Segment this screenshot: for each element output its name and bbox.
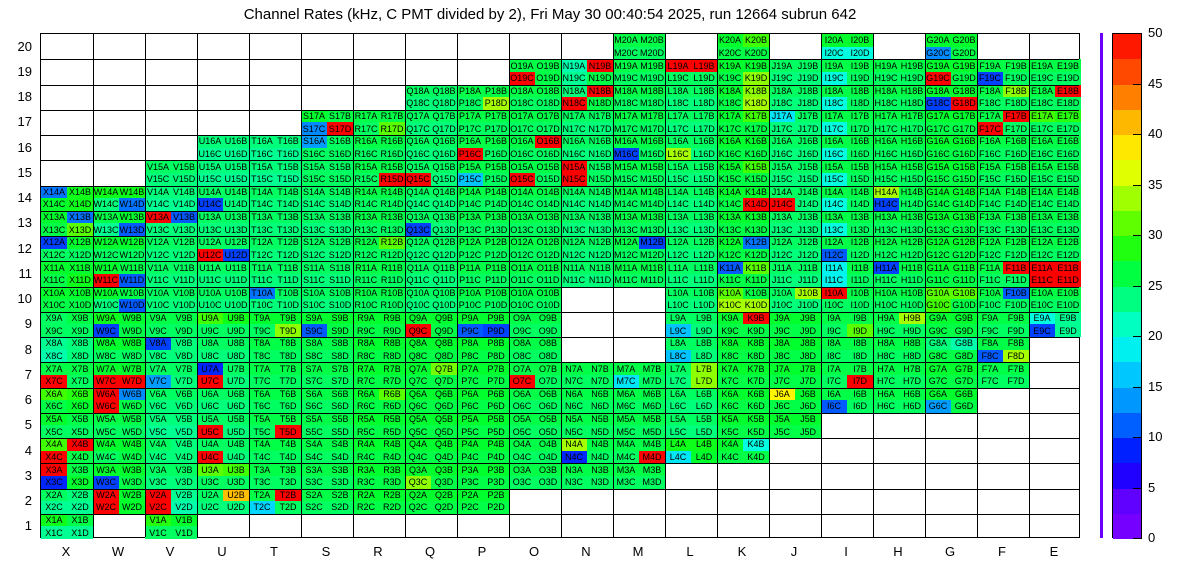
module-cell[interactable]: Q3AQ3BQ3CQ3D bbox=[405, 463, 457, 488]
channel-u13b[interactable]: U13B bbox=[223, 211, 249, 224]
channel-k18b[interactable]: K18B bbox=[743, 85, 769, 98]
channel-r5a[interactable]: R5A bbox=[353, 413, 379, 426]
channel-o10a[interactable]: O10A bbox=[509, 287, 535, 300]
channel-r8b[interactable]: R8B bbox=[379, 337, 405, 350]
channel-x6d[interactable]: X6D bbox=[67, 400, 93, 413]
channel-j13d[interactable]: J13D bbox=[795, 223, 821, 236]
channel-g10a[interactable]: G10A bbox=[925, 287, 951, 300]
channel-p12a[interactable]: P12A bbox=[457, 236, 483, 249]
channel-o13a[interactable]: O13A bbox=[509, 211, 535, 224]
channel-q5d[interactable]: Q5D bbox=[431, 425, 457, 438]
module-cell[interactable]: O17AO17BO17CO17D bbox=[509, 110, 561, 135]
module-cell[interactable]: S2AS2BS2CS2D bbox=[301, 489, 353, 514]
channel-f10a[interactable]: F10A bbox=[977, 287, 1003, 300]
channel-q16b[interactable]: Q16B bbox=[431, 135, 457, 148]
channel-j12b[interactable]: J12B bbox=[795, 236, 821, 249]
module-cell[interactable]: T5AT5BT5CT5D bbox=[249, 413, 301, 438]
channel-f16c[interactable]: F16C bbox=[977, 148, 1003, 161]
channel-l16c[interactable]: L16C bbox=[665, 148, 691, 161]
channel-o17a[interactable]: O17A bbox=[509, 110, 535, 123]
channel-o6d[interactable]: O6D bbox=[535, 400, 561, 413]
channel-g13d[interactable]: G13D bbox=[951, 223, 977, 236]
channel-p11c[interactable]: P11C bbox=[457, 274, 483, 287]
module-cell[interactable]: U15AU15BU15CU15D bbox=[197, 160, 249, 185]
channel-m16a[interactable]: M16A bbox=[613, 135, 639, 148]
channel-k4d[interactable]: K4D bbox=[743, 451, 769, 464]
channel-m16c[interactable]: M16C bbox=[613, 148, 639, 161]
module-cell[interactable]: X11AX11BX11CX11D bbox=[41, 261, 93, 286]
channel-i9b[interactable]: I9B bbox=[847, 312, 873, 325]
channel-j8c[interactable]: J8C bbox=[769, 350, 795, 363]
channel-w11c[interactable]: W11C bbox=[93, 274, 119, 287]
channel-k13b[interactable]: K13B bbox=[743, 211, 769, 224]
channel-n7b[interactable]: N7B bbox=[587, 362, 613, 375]
channel-n17c[interactable]: N17C bbox=[561, 122, 587, 135]
module-cell[interactable]: U12AU12BU12CU12D bbox=[197, 236, 249, 261]
channel-t11b[interactable]: T11B bbox=[275, 261, 301, 274]
channel-j16b[interactable]: J16B bbox=[795, 135, 821, 148]
channel-l19c[interactable]: L19C bbox=[665, 72, 691, 85]
channel-k8b[interactable]: K8B bbox=[743, 337, 769, 350]
channel-l11d[interactable]: L11D bbox=[691, 274, 717, 287]
module-cell[interactable]: W11AW11BW11CW11D bbox=[93, 261, 145, 286]
module-cell[interactable]: P13AP13BP13CP13D bbox=[457, 211, 509, 236]
channel-m6a[interactable]: M6A bbox=[613, 388, 639, 401]
module-cell[interactable]: P16AP16BP16CP16D bbox=[457, 135, 509, 160]
module-cell[interactable]: M14AM14BM14CM14D bbox=[613, 186, 665, 211]
channel-i18d[interactable]: I18D bbox=[847, 97, 873, 110]
channel-g7b[interactable]: G7B bbox=[951, 362, 977, 375]
channel-h7d[interactable]: H7D bbox=[899, 375, 925, 388]
module-cell[interactable]: J9AJ9BJ9CJ9D bbox=[769, 312, 821, 337]
channel-h16d[interactable]: H16D bbox=[899, 148, 925, 161]
module-cell[interactable]: F12AF12BF12CF12D bbox=[977, 236, 1029, 261]
module-cell[interactable]: K17AK17BK17CK17D bbox=[717, 110, 769, 135]
channel-o12d[interactable]: O12D bbox=[535, 249, 561, 262]
channel-f8b[interactable]: F8B bbox=[1003, 337, 1029, 350]
channel-f7a[interactable]: F7A bbox=[977, 362, 1003, 375]
module-cell[interactable]: L12AL12BL12CL12D bbox=[665, 236, 717, 261]
channel-i11c[interactable]: I11C bbox=[821, 274, 847, 287]
channel-w14b[interactable]: W14B bbox=[119, 186, 145, 199]
module-cell[interactable]: R14AR14BR14CR14D bbox=[353, 186, 405, 211]
module-cell[interactable]: Q6AQ6BQ6CQ6D bbox=[405, 388, 457, 413]
channel-s15b[interactable]: S15B bbox=[327, 160, 353, 173]
channel-e11c[interactable]: E11C bbox=[1029, 274, 1055, 287]
channel-j17d[interactable]: J17D bbox=[795, 122, 821, 135]
channel-h14b[interactable]: H14B bbox=[899, 186, 925, 199]
channel-o16d[interactable]: O16D bbox=[535, 148, 561, 161]
channel-r16d[interactable]: R16D bbox=[379, 148, 405, 161]
channel-m20d[interactable]: M20D bbox=[639, 47, 665, 60]
channel-g20d[interactable]: G20D bbox=[951, 47, 977, 60]
channel-s3d[interactable]: S3D bbox=[327, 476, 353, 489]
channel-f14c[interactable]: F14C bbox=[977, 198, 1003, 211]
module-cell[interactable]: S5AS5BS5CS5D bbox=[301, 413, 353, 438]
channel-w10b[interactable]: W10B bbox=[119, 287, 145, 300]
channel-k12d[interactable]: K12D bbox=[743, 249, 769, 262]
module-cell[interactable]: M17AM17BM17CM17D bbox=[613, 110, 665, 135]
channel-p18c[interactable]: P18C bbox=[457, 97, 483, 110]
channel-s4a[interactable]: S4A bbox=[301, 438, 327, 451]
module-cell[interactable]: G11AG11BG11CG11D bbox=[925, 261, 977, 286]
channel-l9a[interactable]: L9A bbox=[665, 312, 691, 325]
channel-m14d[interactable]: M14D bbox=[639, 198, 665, 211]
channel-v7d[interactable]: V7D bbox=[171, 375, 197, 388]
channel-g9a[interactable]: G9A bbox=[925, 312, 951, 325]
channel-g17b[interactable]: G17B bbox=[951, 110, 977, 123]
channel-t13a[interactable]: T13A bbox=[249, 211, 275, 224]
channel-v8d[interactable]: V8D bbox=[171, 350, 197, 363]
channel-x14a[interactable]: X14A bbox=[41, 186, 67, 199]
channel-p5d[interactable]: P5D bbox=[483, 425, 509, 438]
channel-v2b[interactable]: V2B bbox=[171, 489, 197, 502]
channel-m11a[interactable]: M11A bbox=[613, 261, 639, 274]
channel-i17d[interactable]: I17D bbox=[847, 122, 873, 135]
channel-i18b[interactable]: I18B bbox=[847, 85, 873, 98]
channel-f15c[interactable]: F15C bbox=[977, 173, 1003, 186]
module-cell[interactable]: M13AM13BM13CM13D bbox=[613, 211, 665, 236]
channel-l16d[interactable]: L16D bbox=[691, 148, 717, 161]
channel-e10c[interactable]: E10C bbox=[1029, 299, 1055, 312]
module-cell[interactable]: E14AE14BE14CE14D bbox=[1029, 186, 1081, 211]
channel-l11b[interactable]: L11B bbox=[691, 261, 717, 274]
channel-f18a[interactable]: F18A bbox=[977, 85, 1003, 98]
channel-s17c[interactable]: S17C bbox=[301, 122, 327, 135]
channel-s9d[interactable]: S9D bbox=[327, 324, 353, 337]
module-cell[interactable]: G15AG15BG15CG15D bbox=[925, 160, 977, 185]
channel-x6b[interactable]: X6B bbox=[67, 388, 93, 401]
channel-u7b[interactable]: U7B bbox=[223, 362, 249, 375]
channel-q10b[interactable]: Q10B bbox=[431, 287, 457, 300]
channel-h12b[interactable]: H12B bbox=[899, 236, 925, 249]
module-cell[interactable]: W6AW6BW6CW6D bbox=[93, 388, 145, 413]
channel-j5d[interactable]: J5D bbox=[795, 425, 821, 438]
module-cell[interactable]: I16AI16BI16CI16D bbox=[821, 135, 873, 160]
channel-q13c[interactable]: Q13C bbox=[405, 223, 431, 236]
module-cell[interactable]: L18AL18BL18CL18D bbox=[665, 85, 717, 110]
channel-p4c[interactable]: P4C bbox=[457, 451, 483, 464]
channel-g12a[interactable]: G12A bbox=[925, 236, 951, 249]
channel-k6b[interactable]: K6B bbox=[743, 388, 769, 401]
channel-k11d[interactable]: K11D bbox=[743, 274, 769, 287]
channel-g11a[interactable]: G11A bbox=[925, 261, 951, 274]
channel-x8c[interactable]: X8C bbox=[41, 350, 67, 363]
module-cell[interactable]: V8AV8BV8CV8D bbox=[145, 337, 197, 362]
channel-u4b[interactable]: U4B bbox=[223, 438, 249, 451]
channel-f7b[interactable]: F7B bbox=[1003, 362, 1029, 375]
channel-l6d[interactable]: L6D bbox=[691, 400, 717, 413]
module-cell[interactable]: F10AF10BF10CF10D bbox=[977, 287, 1029, 312]
module-cell[interactable]: I19AI19BI19CI19D bbox=[821, 59, 873, 84]
channel-t5a[interactable]: T5A bbox=[249, 413, 275, 426]
channel-n6b[interactable]: N6B bbox=[587, 388, 613, 401]
channel-x13b[interactable]: X13B bbox=[67, 211, 93, 224]
channel-l9b[interactable]: L9B bbox=[691, 312, 717, 325]
module-cell[interactable]: M16AM16BM16CM16D bbox=[613, 135, 665, 160]
channel-f14b[interactable]: F14B bbox=[1003, 186, 1029, 199]
channel-i7b[interactable]: I7B bbox=[847, 362, 873, 375]
channel-n11c[interactable]: N11C bbox=[561, 274, 587, 287]
channel-j18b[interactable]: J18B bbox=[795, 85, 821, 98]
module-cell[interactable]: O14AO14BO14CO14D bbox=[509, 186, 561, 211]
channel-h19b[interactable]: H19B bbox=[899, 59, 925, 72]
channel-v4c[interactable]: V4C bbox=[145, 451, 171, 464]
channel-o14c[interactable]: O14C bbox=[509, 198, 535, 211]
channel-u16d[interactable]: U16D bbox=[223, 148, 249, 161]
module-cell[interactable]: I7AI7BI7CI7D bbox=[821, 362, 873, 387]
channel-o10c[interactable]: O10C bbox=[509, 299, 535, 312]
channel-g18a[interactable]: G18A bbox=[925, 85, 951, 98]
channel-q4c[interactable]: Q4C bbox=[405, 451, 431, 464]
channel-o18d[interactable]: O18D bbox=[535, 97, 561, 110]
channel-e14d[interactable]: E14D bbox=[1055, 198, 1081, 211]
module-cell[interactable]: M6AM6BM6CM6D bbox=[613, 388, 665, 413]
channel-i19a[interactable]: I19A bbox=[821, 59, 847, 72]
channel-v9b[interactable]: V9B bbox=[171, 312, 197, 325]
channel-f8d[interactable]: F8D bbox=[1003, 350, 1029, 363]
channel-u8d[interactable]: U8D bbox=[223, 350, 249, 363]
channel-g11b[interactable]: G11B bbox=[951, 261, 977, 274]
module-cell[interactable]: T15AT15BT15CT15D bbox=[249, 160, 301, 185]
module-cell[interactable]: P8AP8BP8CP8D bbox=[457, 337, 509, 362]
channel-r10d[interactable]: R10D bbox=[379, 299, 405, 312]
module-cell[interactable]: H18AH18BH18CH18D bbox=[873, 85, 925, 110]
channel-u8a[interactable]: U8A bbox=[197, 337, 223, 350]
channel-u11b[interactable]: U11B bbox=[223, 261, 249, 274]
channel-p5b[interactable]: P5B bbox=[483, 413, 509, 426]
channel-w8d[interactable]: W8D bbox=[119, 350, 145, 363]
channel-q9a[interactable]: Q9A bbox=[405, 312, 431, 325]
channel-k12a[interactable]: K12A bbox=[717, 236, 743, 249]
module-cell[interactable]: W2AW2BW2CW2D bbox=[93, 489, 145, 514]
channel-x3d[interactable]: X3D bbox=[67, 476, 93, 489]
channel-q9d[interactable]: Q9D bbox=[431, 324, 457, 337]
channel-t9d[interactable]: T9D bbox=[275, 324, 301, 337]
channel-k19b[interactable]: K19B bbox=[743, 59, 769, 72]
channel-t15d[interactable]: T15D bbox=[275, 173, 301, 186]
module-cell[interactable]: P5AP5BP5CP5D bbox=[457, 413, 509, 438]
channel-f13b[interactable]: F13B bbox=[1003, 211, 1029, 224]
channel-j18d[interactable]: J18D bbox=[795, 97, 821, 110]
channel-r4c[interactable]: R4C bbox=[353, 451, 379, 464]
channel-f15d[interactable]: F15D bbox=[1003, 173, 1029, 186]
module-cell[interactable]: O15AO15BO15CO15D bbox=[509, 160, 561, 185]
channel-g19d[interactable]: G19D bbox=[951, 72, 977, 85]
channel-g9d[interactable]: G9D bbox=[951, 324, 977, 337]
channel-x14c[interactable]: X14C bbox=[41, 198, 67, 211]
module-cell[interactable]: R16AR16BR16CR16D bbox=[353, 135, 405, 160]
channel-s2a[interactable]: S2A bbox=[301, 489, 327, 502]
channel-m6b[interactable]: M6B bbox=[639, 388, 665, 401]
channel-p12c[interactable]: P12C bbox=[457, 249, 483, 262]
channel-l8a[interactable]: L8A bbox=[665, 337, 691, 350]
channel-i6b[interactable]: I6B bbox=[847, 388, 873, 401]
channel-l12d[interactable]: L12D bbox=[691, 249, 717, 262]
channel-o11b[interactable]: O11B bbox=[535, 261, 561, 274]
channel-r6c[interactable]: R6C bbox=[353, 400, 379, 413]
channel-v10a[interactable]: V10A bbox=[145, 287, 171, 300]
channel-w14a[interactable]: W14A bbox=[93, 186, 119, 199]
channel-o3a[interactable]: O3A bbox=[509, 463, 535, 476]
channel-o4a[interactable]: O4A bbox=[509, 438, 535, 451]
module-cell[interactable]: X1AX1BX1CX1D bbox=[41, 514, 93, 539]
channel-m11d[interactable]: M11D bbox=[639, 274, 665, 287]
channel-j8d[interactable]: J8D bbox=[795, 350, 821, 363]
channel-l11c[interactable]: L11C bbox=[665, 274, 691, 287]
module-cell[interactable]: Q7AQ7BQ7CQ7D bbox=[405, 362, 457, 387]
channel-q16c[interactable]: Q16C bbox=[405, 148, 431, 161]
module-cell[interactable]: V6AV6BV6CV6D bbox=[145, 388, 197, 413]
channel-h14d[interactable]: H14D bbox=[899, 198, 925, 211]
channel-v3d[interactable]: V3D bbox=[171, 476, 197, 489]
channel-p15a[interactable]: P15A bbox=[457, 160, 483, 173]
channel-i12a[interactable]: I12A bbox=[821, 236, 847, 249]
channel-l17a[interactable]: L17A bbox=[665, 110, 691, 123]
channel-u6c[interactable]: U6C bbox=[197, 400, 223, 413]
channel-l9c[interactable]: L9C bbox=[665, 324, 691, 337]
channel-i19b[interactable]: I19B bbox=[847, 59, 873, 72]
channel-v11a[interactable]: V11A bbox=[145, 261, 171, 274]
module-cell[interactable]: S4AS4BS4CS4D bbox=[301, 438, 353, 463]
module-cell[interactable]: L10AL10BL10CL10D bbox=[665, 287, 717, 312]
module-cell[interactable]: X8AX8BX8CX8D bbox=[41, 337, 93, 362]
channel-t3a[interactable]: T3A bbox=[249, 463, 275, 476]
channel-h16c[interactable]: H16C bbox=[873, 148, 899, 161]
channel-e18c[interactable]: E18C bbox=[1029, 97, 1055, 110]
channel-n3c[interactable]: N3C bbox=[561, 476, 587, 489]
channel-w11b[interactable]: W11B bbox=[119, 261, 145, 274]
channel-r17b[interactable]: R17B bbox=[379, 110, 405, 123]
channel-q12a[interactable]: Q12A bbox=[405, 236, 431, 249]
module-cell[interactable]: E13AE13BE13CE13D bbox=[1029, 211, 1081, 236]
channel-l7d[interactable]: L7D bbox=[691, 375, 717, 388]
channel-h11c[interactable]: H11C bbox=[873, 274, 899, 287]
channel-v2d[interactable]: V2D bbox=[171, 501, 197, 514]
channel-p11b[interactable]: P11B bbox=[483, 261, 509, 274]
channel-x9a[interactable]: X9A bbox=[41, 312, 67, 325]
module-cell[interactable]: M3AM3BM3CM3D bbox=[613, 463, 665, 488]
channel-e14a[interactable]: E14A bbox=[1029, 186, 1055, 199]
channel-i14a[interactable]: I14A bbox=[821, 186, 847, 199]
channel-n4c[interactable]: N4C bbox=[561, 451, 587, 464]
channel-h17c[interactable]: H17C bbox=[873, 122, 899, 135]
channel-i15a[interactable]: I15A bbox=[821, 160, 847, 173]
channel-e16c[interactable]: E16C bbox=[1029, 148, 1055, 161]
channel-u2a[interactable]: U2A bbox=[197, 489, 223, 502]
channel-l7a[interactable]: L7A bbox=[665, 362, 691, 375]
channel-s3a[interactable]: S3A bbox=[301, 463, 327, 476]
module-cell[interactable]: P4AP4BP4CP4D bbox=[457, 438, 509, 463]
module-cell[interactable]: T16AT16BT16CT16D bbox=[249, 135, 301, 160]
channel-x4b[interactable]: X4B bbox=[67, 438, 93, 451]
channel-q6d[interactable]: Q6D bbox=[431, 400, 457, 413]
channel-i9d[interactable]: I9D bbox=[847, 324, 873, 337]
channel-f7c[interactable]: F7C bbox=[977, 375, 1003, 388]
channel-l15d[interactable]: L15D bbox=[691, 173, 717, 186]
channel-e15b[interactable]: E15B bbox=[1055, 160, 1081, 173]
channel-k18d[interactable]: K18D bbox=[743, 97, 769, 110]
channel-q7c[interactable]: Q7C bbox=[405, 375, 431, 388]
channel-k11a[interactable]: K11A bbox=[717, 261, 743, 274]
channel-l12c[interactable]: L12C bbox=[665, 249, 691, 262]
channel-i6c[interactable]: I6C bbox=[821, 400, 847, 413]
channel-k5a[interactable]: K5A bbox=[717, 413, 743, 426]
channel-h17d[interactable]: H17D bbox=[899, 122, 925, 135]
channel-w4a[interactable]: W4A bbox=[93, 438, 119, 451]
channel-v10d[interactable]: V10D bbox=[171, 299, 197, 312]
channel-r8c[interactable]: R8C bbox=[353, 350, 379, 363]
module-cell[interactable]: W9AW9BW9CW9D bbox=[93, 312, 145, 337]
channel-v1b[interactable]: V1B bbox=[171, 514, 197, 527]
module-cell[interactable]: L6AL6BL6CL6D bbox=[665, 388, 717, 413]
channel-s10d[interactable]: S10D bbox=[327, 299, 353, 312]
module-cell[interactable]: T3AT3BT3CT3D bbox=[249, 463, 301, 488]
module-cell[interactable]: N6AN6BN6CN6D bbox=[561, 388, 613, 413]
channel-t12c[interactable]: T12C bbox=[249, 249, 275, 262]
channel-n12d[interactable]: N12D bbox=[587, 249, 613, 262]
channel-q16d[interactable]: Q16D bbox=[431, 148, 457, 161]
channel-q3d[interactable]: Q3D bbox=[431, 476, 457, 489]
module-cell[interactable]: T4AT4BT4CT4D bbox=[249, 438, 301, 463]
channel-p8b[interactable]: P8B bbox=[483, 337, 509, 350]
module-cell[interactable]: J14AJ14BJ14CJ14D bbox=[769, 186, 821, 211]
channel-u12a[interactable]: U12A bbox=[197, 236, 223, 249]
module-cell[interactable]: H6AH6BH6CH6D bbox=[873, 388, 925, 413]
module-cell[interactable]: U10AU10BU10CU10D bbox=[197, 287, 249, 312]
channel-v12d[interactable]: V12D bbox=[171, 249, 197, 262]
channel-q18c[interactable]: Q18C bbox=[405, 97, 431, 110]
module-cell[interactable]: X13AX13BX13CX13D bbox=[41, 211, 93, 236]
module-cell[interactable]: S17AS17BS17CS17D bbox=[301, 110, 353, 135]
channel-v11d[interactable]: V11D bbox=[171, 274, 197, 287]
channel-t8a[interactable]: T8A bbox=[249, 337, 275, 350]
channel-p16a[interactable]: P16A bbox=[457, 135, 483, 148]
channel-g8c[interactable]: G8C bbox=[925, 350, 951, 363]
channel-n17a[interactable]: N17A bbox=[561, 110, 587, 123]
channel-h18d[interactable]: H18D bbox=[899, 97, 925, 110]
channel-s16c[interactable]: S16C bbox=[301, 148, 327, 161]
module-cell[interactable]: K19AK19BK19CK19D bbox=[717, 59, 769, 84]
channel-x4c[interactable]: X4C bbox=[41, 451, 67, 464]
module-cell[interactable]: I10AI10BI10CI10D bbox=[821, 287, 873, 312]
channel-j11a[interactable]: J11A bbox=[769, 261, 795, 274]
module-cell[interactable]: K10AK10BK10CK10D bbox=[717, 287, 769, 312]
channel-m11c[interactable]: M11C bbox=[613, 274, 639, 287]
channel-i9c[interactable]: I9C bbox=[821, 324, 847, 337]
channel-t4c[interactable]: T4C bbox=[249, 451, 275, 464]
channel-r15a[interactable]: R15A bbox=[353, 160, 379, 173]
module-cell[interactable]: R3AR3BR3CR3D bbox=[353, 463, 405, 488]
channel-k6d[interactable]: K6D bbox=[743, 400, 769, 413]
channel-f12c[interactable]: F12C bbox=[977, 249, 1003, 262]
module-cell[interactable]: N15AN15BN15CN15D bbox=[561, 160, 613, 185]
channel-s9a[interactable]: S9A bbox=[301, 312, 327, 325]
channel-w2d[interactable]: W2D bbox=[119, 501, 145, 514]
channel-i7a[interactable]: I7A bbox=[821, 362, 847, 375]
channel-f7d[interactable]: F7D bbox=[1003, 375, 1029, 388]
channel-p7c[interactable]: P7C bbox=[457, 375, 483, 388]
channel-o5a[interactable]: O5A bbox=[509, 413, 535, 426]
channel-m18b[interactable]: M18B bbox=[639, 85, 665, 98]
channel-s15a[interactable]: S15A bbox=[301, 160, 327, 173]
channel-r10b[interactable]: R10B bbox=[379, 287, 405, 300]
channel-u15d[interactable]: U15D bbox=[223, 173, 249, 186]
channel-h9d[interactable]: H9D bbox=[899, 324, 925, 337]
channel-l16a[interactable]: L16A bbox=[665, 135, 691, 148]
channel-v3b[interactable]: V3B bbox=[171, 463, 197, 476]
channel-n5c[interactable]: N5C bbox=[561, 425, 587, 438]
